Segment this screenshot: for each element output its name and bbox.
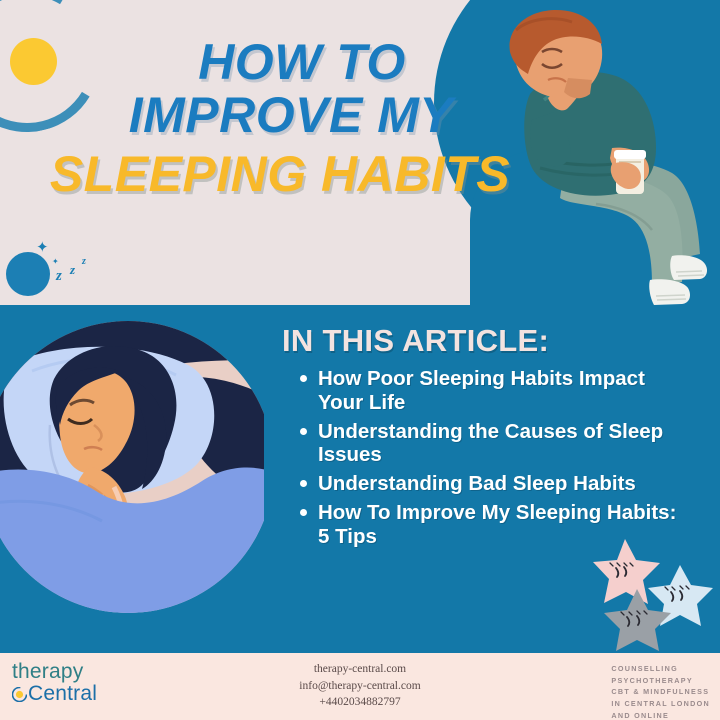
tagline-line: COUNSELLING (611, 663, 710, 675)
tagline-line: CBT & MINDFULNESS (611, 686, 710, 698)
title-line-1: HOW TO (44, 36, 560, 89)
three-sleeping-stars-icon (592, 533, 714, 651)
list-item: Understanding the Causes of Sleep Issues (318, 420, 678, 468)
title-highlight: SLEEPING HABITS (0, 148, 560, 201)
pink-star-icon (593, 539, 660, 604)
tagline-line: PSYCHOTHERAPY (611, 675, 710, 687)
zzz-icon-2: z (70, 262, 75, 278)
tagline-line: AND ONLINE (611, 710, 710, 720)
article-section: IN THIS ARTICLE: How Poor Sleeping Habit… (0, 305, 720, 653)
page-title: HOW TO IMPROVE MY SLEEPING HABITS (0, 36, 560, 201)
sparkle-icon: ✦ (36, 240, 49, 255)
list-item: Understanding Bad Sleep Habits (318, 472, 678, 496)
tagline-line: IN CENTRAL LONDON (611, 698, 710, 710)
moon-zzz-decor: ✦ ✦ z z z (4, 238, 114, 305)
footer-section: therapy Central therapy-central.com info… (0, 653, 720, 720)
title-line-2: IMPROVE MY (22, 89, 560, 142)
infographic-poster: ✦ ✦ z z z HOW TO IMPROVE MY SLEEPING HAB… (0, 0, 720, 720)
header-section: ✦ ✦ z z z HOW TO IMPROVE MY SLEEPING HAB… (0, 0, 720, 305)
crescent-moon-icon (6, 252, 50, 296)
sleeping-woman-illustration (0, 317, 264, 617)
list-item: How Poor Sleeping Habits Impact Your Lif… (318, 367, 678, 415)
in-this-article-heading: IN THIS ARTICLE: (282, 323, 549, 359)
article-contents-list: How Poor Sleeping Habits Impact Your Lif… (292, 367, 678, 553)
services-tagline: COUNSELLING PSYCHOTHERAPY CBT & MINDFULN… (611, 663, 710, 720)
sparkle-small-icon: ✦ (52, 258, 59, 266)
zzz-icon-3: z (82, 256, 86, 267)
zzz-icon-1: z (56, 268, 62, 285)
